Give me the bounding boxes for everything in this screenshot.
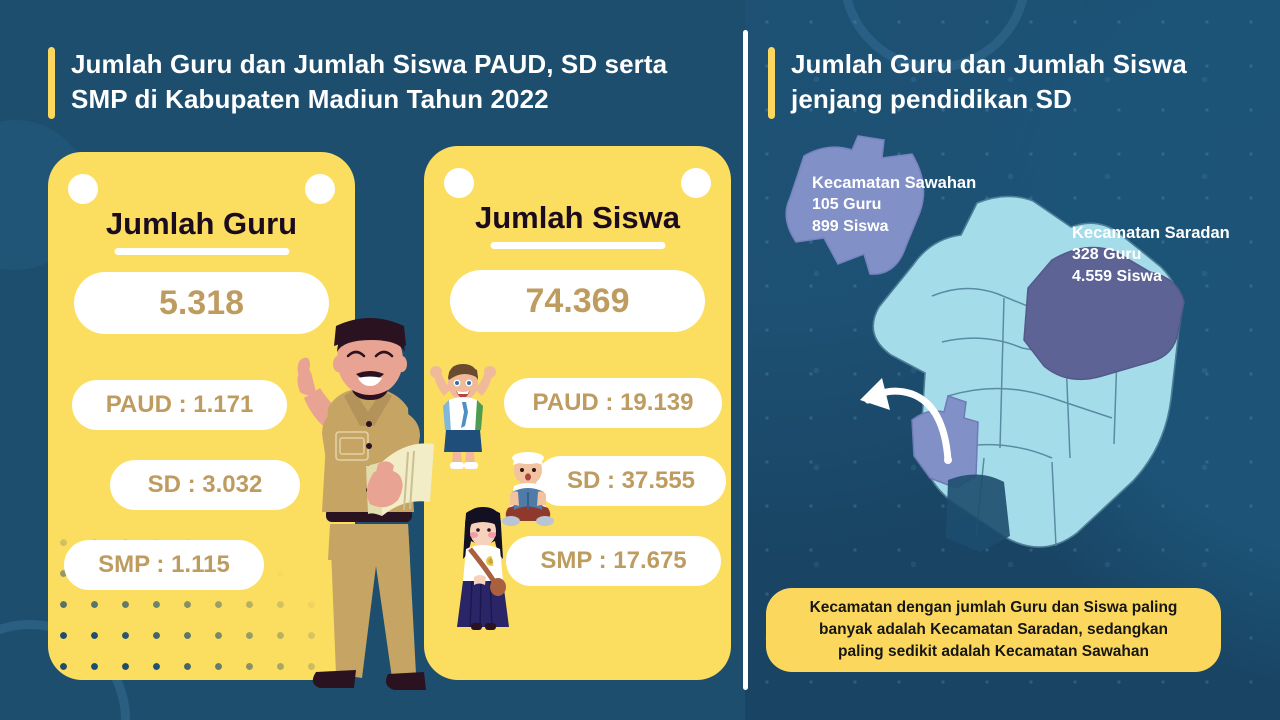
panel-divider xyxy=(743,30,748,690)
student-girl-illustration xyxy=(452,505,514,633)
student-boy-cheering-illustration xyxy=(428,358,498,470)
card-punch-hole-left xyxy=(68,174,98,204)
siswa-total-value: 74.369 xyxy=(450,270,705,332)
siswa-sd-value: SD : 37.555 xyxy=(536,456,726,506)
sawahan-name: Kecamatan Sawahan xyxy=(812,172,976,194)
card-title-underline xyxy=(114,248,289,255)
map-summary-caption: Kecamatan dengan jumlah Guru dan Siswa p… xyxy=(766,588,1221,672)
guru-smp-value: SMP : 1.115 xyxy=(64,540,264,590)
map-region-dark xyxy=(946,474,1010,552)
left-heading-text: Jumlah Guru dan Jumlah Siswa PAUD, SD se… xyxy=(71,47,667,116)
sawahan-siswa: 899 Siswa xyxy=(812,216,976,238)
siswa-smp-value: SMP : 17.675 xyxy=(506,536,721,586)
guru-sd-value: SD : 3.032 xyxy=(110,460,300,510)
infographic-canvas: Jumlah Guru dan Jumlah Siswa PAUD, SD se… xyxy=(0,0,1280,720)
saradan-name: Kecamatan Saradan xyxy=(1072,222,1230,244)
saradan-siswa: 4.559 Siswa xyxy=(1072,266,1230,288)
guru-paud-value: PAUD : 1.171 xyxy=(72,380,287,430)
right-panel-heading: Jumlah Guru dan Jumlah Siswa jenjang pen… xyxy=(768,47,1238,119)
card-punch-hole-right xyxy=(305,174,335,204)
card-title-underline xyxy=(490,242,665,249)
card-title: Jumlah Guru xyxy=(48,206,355,242)
left-panel-heading: Jumlah Guru dan Jumlah Siswa PAUD, SD se… xyxy=(48,47,708,119)
map-label-sawahan: Kecamatan Sawahan 105 Guru 899 Siswa xyxy=(812,172,976,237)
heading-accent-bar xyxy=(768,47,775,119)
saradan-guru: 328 Guru xyxy=(1072,244,1230,266)
sawahan-guru: 105 Guru xyxy=(812,194,976,216)
siswa-paud-value: PAUD : 19.139 xyxy=(504,378,722,428)
card-title: Jumlah Siswa xyxy=(424,200,731,236)
right-heading-text: Jumlah Guru dan Jumlah Siswa jenjang pen… xyxy=(791,47,1187,116)
heading-accent-bar xyxy=(48,47,55,119)
card-punch-hole-left xyxy=(444,168,474,198)
map-label-saradan: Kecamatan Saradan 328 Guru 4.559 Siswa xyxy=(1072,222,1230,287)
card-punch-hole-right xyxy=(681,168,711,198)
